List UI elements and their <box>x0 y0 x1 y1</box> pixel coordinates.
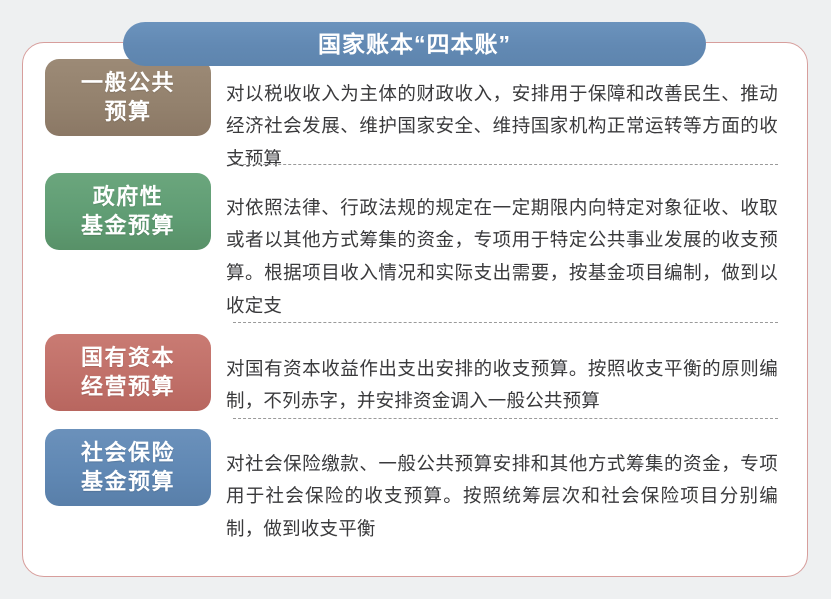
budget-row: 一般公共 预算 对以税收收入为主体的财政收入，安排用于保障和改善民生、推动经济社… <box>30 52 800 165</box>
infographic-root: 国家账本“四本账” 一般公共 预算 对以税收收入为主体的财政收入，安排用于保障和… <box>0 0 831 599</box>
budget-label-line-2: 预算 <box>104 98 151 126</box>
budget-description: 对以税收收入为主体的财政收入，安排用于保障和改善民生、推动经济社会发展、维护国家… <box>226 78 778 177</box>
budget-row: 国有资本 经营预算 对国有资本收益作出支出安排的收支预算。按照收支平衡的原则编制… <box>30 323 800 419</box>
budget-description: 对国有资本收益作出支出安排的收支预算。按照收支平衡的原则编制，不列赤字，并安排资… <box>226 353 778 419</box>
page-title: 国家账本“四本账” <box>318 33 511 56</box>
budget-label-cell: 社会保险 基金预算 <box>30 429 226 506</box>
title-banner: 国家账本“四本账” <box>123 22 706 66</box>
budget-row: 社会保险 基金预算 对社会保险缴款、一般公共预算安排和其他方式筹集的资金，专项用… <box>30 419 800 549</box>
budget-label-cell: 政府性 基金预算 <box>30 173 226 250</box>
budget-label-line-2: 基金预算 <box>81 468 175 496</box>
budget-label-social-insurance: 社会保险 基金预算 <box>45 429 211 506</box>
budget-label-line-1: 社会保险 <box>81 439 175 467</box>
budget-label-cell: 一般公共 预算 <box>30 59 226 136</box>
budget-label-line-1: 国有资本 <box>81 344 175 372</box>
budget-label-cell: 国有资本 经营预算 <box>30 334 226 411</box>
budget-rows-list: 一般公共 预算 对以税收收入为主体的财政收入，安排用于保障和改善民生、推动经济社… <box>30 52 800 549</box>
budget-description: 对社会保险缴款、一般公共预算安排和其他方式筹集的资金，专项用于社会保险的收支预算… <box>226 448 778 547</box>
budget-description-cell: 对依照法律、行政法规的规定在一定期限内向特定对象征收、收取或者以其他方式筹集的资… <box>226 173 800 342</box>
budget-label-general-public: 一般公共 预算 <box>45 59 211 136</box>
budget-label-line-1: 一般公共 <box>81 69 175 97</box>
budget-label-state-capital: 国有资本 经营预算 <box>45 334 211 411</box>
budget-label-line-1: 政府性 <box>93 183 164 211</box>
budget-label-line-2: 经营预算 <box>81 373 175 401</box>
budget-description-cell: 对社会保险缴款、一般公共预算安排和其他方式筹集的资金，专项用于社会保险的收支预算… <box>226 429 800 565</box>
budget-label-government-fund: 政府性 基金预算 <box>45 173 211 250</box>
budget-description: 对依照法律、行政法规的规定在一定期限内向特定对象征收、收取或者以其他方式筹集的资… <box>226 192 778 324</box>
budget-row: 政府性 基金预算 对依照法律、行政法规的规定在一定期限内向特定对象征收、收取或者… <box>30 165 800 323</box>
budget-label-line-2: 基金预算 <box>81 212 175 240</box>
